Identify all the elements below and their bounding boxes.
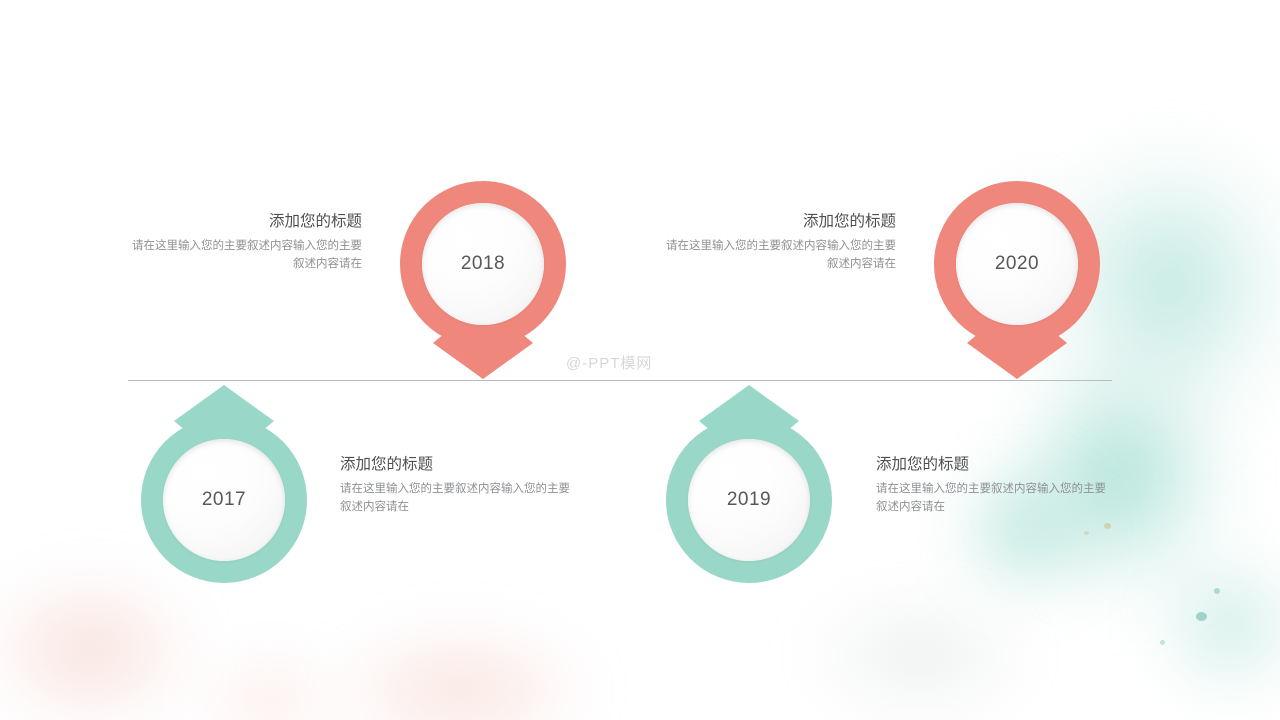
watermark-text: @-PPT模网 (566, 352, 652, 373)
watercolor-pink-splash (280, 600, 640, 720)
text-description: 请在这里输入您的主要叙述内容输入您的主要叙述内容请在 (126, 238, 362, 274)
text-block-2017: 添加您的标题 请在这里输入您的主要叙述内容输入您的主要叙述内容请在 (340, 452, 576, 517)
pointer-down-icon (967, 333, 1067, 379)
text-title: 添加您的标题 (660, 209, 896, 231)
text-title: 添加您的标题 (340, 452, 576, 474)
timeline-node-2019[interactable]: 2019 (666, 417, 832, 583)
watercolor-pink-splash (170, 640, 370, 720)
text-description: 请在这里输入您的主要叙述内容输入您的主要叙述内容请在 (660, 238, 896, 274)
text-block-2020: 添加您的标题 请在这里输入您的主要叙述内容输入您的主要叙述内容请在 (660, 209, 896, 274)
timeline-axis (128, 380, 1112, 381)
text-title: 添加您的标题 (126, 209, 362, 231)
node-year-label: 2017 (202, 489, 246, 511)
watercolor-speck (1196, 612, 1207, 621)
node-year-label: 2020 (995, 253, 1039, 275)
watercolor-speck (1104, 523, 1111, 529)
slide-canvas: @-PPT模网 2017 添加您的标题 请在这里输入您的主要叙述内容输入您的主要… (0, 0, 1280, 720)
timeline-node-2018[interactable]: 2018 (400, 181, 566, 347)
text-description: 请在这里输入您的主要叙述内容输入您的主要叙述内容请在 (340, 481, 576, 517)
node-inner-disc: 2019 (688, 439, 810, 561)
node-year-label: 2019 (727, 489, 771, 511)
watercolor-speck (1214, 588, 1220, 594)
watercolor-teal-splash (1120, 520, 1280, 720)
timeline-node-2020[interactable]: 2020 (934, 181, 1100, 347)
text-block-2018: 添加您的标题 请在这里输入您的主要叙述内容输入您的主要叙述内容请在 (126, 209, 362, 274)
watercolor-speck (1084, 531, 1089, 535)
watercolor-speck (1160, 640, 1165, 645)
node-inner-disc: 2017 (163, 439, 285, 561)
node-inner-disc: 2018 (422, 203, 544, 325)
node-year-label: 2018 (461, 253, 505, 275)
text-title: 添加您的标题 (876, 452, 1112, 474)
pointer-down-icon (433, 333, 533, 379)
timeline-node-2017[interactable]: 2017 (141, 417, 307, 583)
watercolor-grey-splash (760, 560, 1080, 720)
node-inner-disc: 2020 (956, 203, 1078, 325)
text-description: 请在这里输入您的主要叙述内容输入您的主要叙述内容请在 (876, 481, 1112, 517)
text-block-2019: 添加您的标题 请在这里输入您的主要叙述内容输入您的主要叙述内容请在 (876, 452, 1112, 517)
